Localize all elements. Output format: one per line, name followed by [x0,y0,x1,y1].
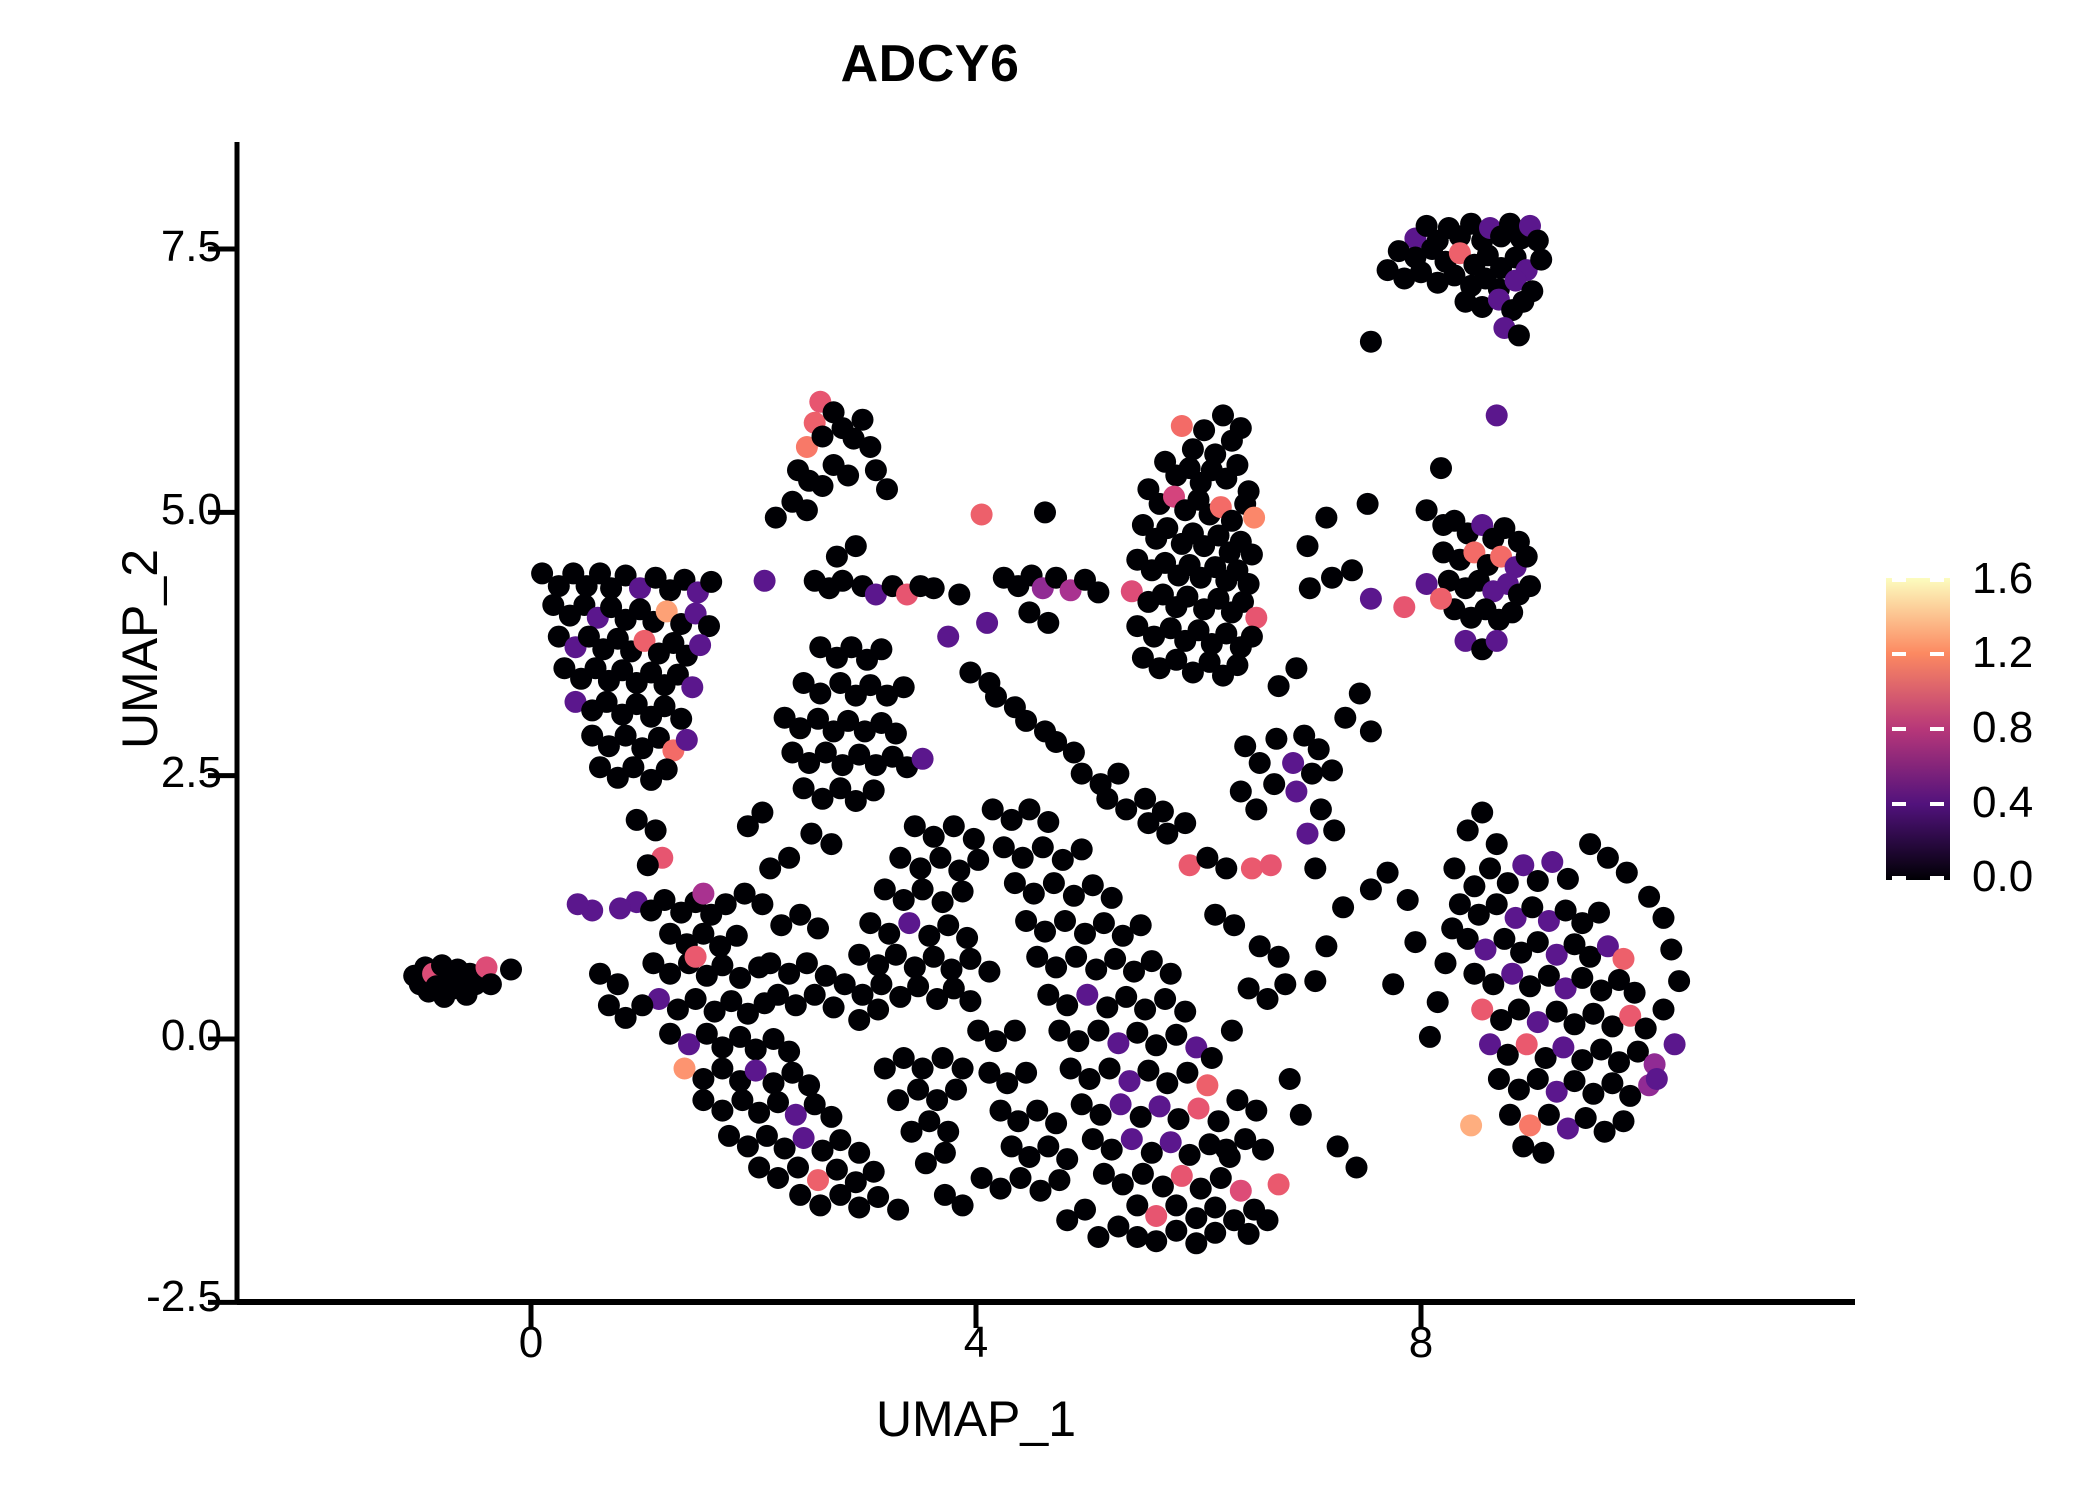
data-point [622,756,644,778]
data-point [1499,1104,1521,1126]
data-point [1082,1128,1104,1150]
ytick-label-0: 7.5 [161,222,222,272]
data-point [1119,1070,1141,1092]
data-point [1165,1024,1187,1046]
data-point [990,1178,1012,1200]
data-point [1087,1020,1109,1042]
data-point [1588,902,1610,924]
data-point [912,1058,934,1080]
data-point [1154,988,1176,1010]
data-point [1486,893,1508,915]
ytick-label-2: 2.5 [161,748,222,798]
x-axis-title: UMAP_1 [531,1390,1421,1448]
data-point [852,409,874,431]
data-point [796,499,818,521]
data-point [1449,893,1471,915]
data-point [1349,683,1371,705]
data-point [711,1058,733,1080]
data-point [837,465,859,487]
data-point [607,973,629,995]
data-point [1263,773,1285,795]
data-point [793,777,815,799]
data-point [785,1104,807,1126]
data-point [870,973,892,995]
data-point [1304,857,1326,879]
data-point [1145,1230,1167,1252]
data-point [1052,849,1074,871]
data-point [1597,847,1619,869]
data-point [1532,1142,1554,1164]
data-point [1034,501,1056,523]
data-point [1327,1135,1349,1157]
data-point [876,478,898,500]
data-point [937,626,959,648]
data-point [932,891,954,913]
data-point [1546,1001,1568,1023]
data-point [609,897,631,919]
data-point [1026,1100,1048,1122]
data-point [907,1079,929,1101]
data-point [1497,1044,1519,1066]
data-point [865,459,887,481]
data-point [767,1167,789,1189]
data-point [1488,1068,1510,1090]
data-point [1115,798,1137,820]
data-point [1519,575,1541,597]
data-point [656,758,678,780]
data-point [915,1152,937,1174]
data-point [1204,1197,1226,1219]
data-point [1107,1216,1129,1238]
data-point [1174,1001,1196,1023]
data-point [1030,1180,1052,1202]
colorbar-label-3: 0.4 [1972,778,2033,828]
data-point [1310,798,1332,820]
data-point [1501,963,1523,985]
data-point [1377,862,1399,884]
data-point [1063,742,1085,764]
data-point [945,1079,967,1101]
data-point [934,1142,956,1164]
data-point [1360,720,1382,742]
data-point [1660,939,1682,961]
ytick-label-4: -2.5 [146,1272,222,1322]
data-point [1201,1047,1223,1069]
data-point [659,963,681,985]
data-point [1107,1032,1129,1054]
data-point [889,847,911,869]
data-point [1018,601,1040,623]
data-point [952,881,974,903]
data-point [845,535,867,557]
data-point [726,925,748,947]
data-point [1334,707,1356,729]
data-point [1007,1110,1029,1132]
data-point [1443,857,1465,879]
data-point [1130,1106,1152,1128]
data-point [1099,1058,1121,1080]
data-point [1132,1163,1154,1185]
data-point [1274,973,1296,995]
data-point [1137,1060,1159,1082]
data-point [1257,988,1279,1010]
data-point [480,973,502,995]
data-point [1241,626,1263,648]
data-point [1087,1226,1109,1248]
data-point [711,1100,733,1122]
data-point [1034,921,1056,943]
data-point [993,836,1015,858]
data-point [1048,1169,1070,1191]
xtick-label-1: 4 [916,1318,1036,1368]
data-point [1037,984,1059,1006]
data-point [1015,1062,1037,1084]
data-point [1071,763,1093,785]
data-point [759,857,781,879]
data-point [1315,935,1337,957]
data-point [1460,1114,1482,1136]
data-point [1018,798,1040,820]
data-point [1265,728,1287,750]
data-point [907,975,929,997]
data-point [676,729,698,751]
data-point [1034,720,1056,742]
data-point [823,996,845,1018]
data-point [820,1106,842,1128]
data-point [1145,1034,1167,1056]
data-point [798,1074,820,1096]
data-point [1527,230,1549,252]
data-point [904,815,926,837]
data-point [1149,1095,1171,1117]
data-point [1176,1062,1198,1084]
data-point [978,961,1000,983]
data-point [1076,984,1098,1006]
data-point [1093,912,1115,934]
data-point [1101,1139,1123,1161]
data-point [765,507,787,529]
data-point [692,1089,714,1111]
data-point [1185,1207,1207,1229]
data-point [759,952,781,974]
data-point [1179,1144,1201,1166]
data-point [1557,868,1579,890]
data-point [985,1030,1007,1052]
data-point [1357,493,1379,515]
data-point [959,948,981,970]
data-point [692,1068,714,1090]
data-point [785,994,807,1016]
data-point [1067,1030,1089,1052]
data-point [770,914,792,936]
data-point [1619,1085,1641,1107]
colorbar-tick-0 [1892,578,1944,582]
data-point [1282,752,1304,774]
colorbar-label-4: 0.0 [1972,852,2033,902]
data-point [1245,1100,1267,1122]
data-point [1512,291,1534,313]
data-point [1475,939,1497,961]
data-point [1160,963,1182,985]
data-point [1512,1135,1534,1157]
data-point [952,1058,974,1080]
data-point [937,914,959,936]
data-point [1486,833,1508,855]
data-point [1145,1205,1167,1227]
data-point [1032,836,1054,858]
data-point [1257,1209,1279,1231]
data-point [1221,1020,1243,1042]
data-point [809,1194,831,1216]
data-point [1441,917,1463,939]
data-point [1416,499,1438,521]
data-point [1045,1112,1067,1134]
data-point [1215,857,1237,879]
data-point [1045,956,1067,978]
data-point [1516,1033,1538,1055]
data-point [1479,857,1501,879]
data-point [626,809,648,831]
data-point [1497,872,1519,894]
data-point [848,1009,870,1031]
data-point [1054,910,1076,932]
data-point [807,917,829,939]
data-point [1230,1180,1252,1202]
data-point [1299,577,1321,599]
data-point [848,1197,870,1219]
data-point [874,1058,896,1080]
data-point [848,944,870,966]
data-point [1126,1226,1148,1248]
data-point [1419,1026,1441,1048]
data-point [1238,1223,1260,1245]
data-point [787,1157,809,1179]
data-points-layer [403,213,1690,1255]
data-point [923,826,945,848]
data-point [1519,975,1541,997]
data-point [751,893,773,915]
data-point [820,833,842,855]
data-point [1230,417,1252,439]
data-point [737,1135,759,1157]
data-point [971,504,993,526]
data-point [1435,952,1457,974]
data-point [1110,1093,1132,1115]
y-axis-title: UMAP_2 [111,449,169,849]
data-point [767,1091,789,1113]
data-point [1090,1104,1112,1126]
data-point [751,802,773,824]
data-point [1664,1033,1686,1055]
data-point [804,984,826,1006]
data-point [1238,977,1260,999]
data-point [1541,851,1563,873]
data-point [1134,788,1156,810]
data-point [1252,1139,1274,1161]
data-point [681,676,703,698]
data-point [659,1023,681,1045]
data-point [1508,999,1530,1021]
data-point [1037,1135,1059,1157]
data-point [1165,1194,1187,1216]
data-point [645,819,667,841]
data-point [1564,1013,1586,1035]
colorbar-tick-3 [1892,802,1944,806]
data-point [1323,819,1345,841]
data-point [923,577,945,599]
data-point [748,1102,770,1124]
data-point [729,967,751,989]
data-point [1346,1157,1368,1179]
ytick-label-3: 0.0 [161,1011,222,1061]
data-point [1043,872,1065,894]
data-point [1527,870,1549,892]
data-point [1085,959,1107,981]
data-point [1279,1068,1301,1090]
data-point [1156,1072,1178,1094]
data-point [685,946,707,968]
data-point [1065,946,1087,968]
data-point [1074,1199,1096,1221]
data-point [1056,994,1078,1016]
data-point [1613,1110,1635,1132]
data-point [1427,991,1449,1013]
data-point [1516,546,1538,568]
data-point [874,878,896,900]
data-point [893,1047,915,1069]
data-point [1579,833,1601,855]
data-point [1168,1108,1190,1130]
data-point [1130,914,1152,936]
data-point [1564,1070,1586,1092]
data-point [1226,654,1248,676]
data-point [778,847,800,869]
data-point [1653,999,1675,1021]
data-point [1613,948,1635,970]
data-point [1404,931,1426,953]
data-point [1196,847,1218,869]
data-point [878,923,900,945]
data-point [1582,1083,1604,1105]
data-point [982,798,1004,820]
data-point [832,570,854,592]
data-point [812,475,834,497]
data-point [1301,763,1323,785]
data-point [848,1142,870,1164]
data-point [1519,1114,1541,1136]
data-point [763,1072,785,1094]
data-point [1304,970,1326,992]
data-point [1234,735,1256,757]
data-point [1208,1110,1230,1132]
data-point [1290,1104,1312,1126]
data-point [789,904,811,926]
data-point [1538,1104,1560,1126]
data-point [1332,896,1354,918]
data-point [1074,923,1096,945]
data-point [1527,1068,1549,1090]
data-point [926,1089,948,1111]
data-point [1635,1018,1657,1040]
data-point [1126,1194,1148,1216]
data-point [1249,935,1271,957]
data-point [1608,1051,1630,1073]
data-point [1037,612,1059,634]
data-point [1082,874,1104,896]
data-point [978,672,1000,694]
data-point [959,662,981,684]
data-point [718,1125,740,1147]
data-point [1245,798,1267,820]
colorbar-tick-1 [1892,652,1944,656]
data-point [904,956,926,978]
data-point [1594,1121,1616,1143]
data-point [1285,781,1307,803]
data-point [943,815,965,837]
data-point [1026,946,1048,968]
data-point [1457,819,1479,841]
ytick-label-1: 5.0 [161,485,222,535]
color-legend: 1.6 1.2 0.8 0.4 0.0 [1886,578,2086,880]
data-point [918,1110,940,1132]
data-point [1321,759,1343,781]
data-point [1204,1222,1226,1244]
data-point [912,748,934,770]
data-point [1230,781,1252,803]
data-point [863,779,885,801]
data-point [1160,1131,1182,1153]
data-point [689,634,711,656]
data-point [863,1161,885,1183]
data-point [1508,324,1530,346]
colorbar-tick-2 [1892,727,1944,731]
data-point [885,944,907,966]
data-point [1004,872,1026,894]
data-point [796,952,818,974]
data-point [698,615,720,637]
data-point [1104,948,1126,970]
xtick-label-0: 0 [471,1318,591,1368]
data-point [1527,1011,1549,1033]
data-point [715,893,737,915]
data-point [670,708,692,730]
data-point [971,1167,993,1189]
data-point [941,959,963,981]
data-point [809,683,831,705]
data-point [1060,1058,1082,1080]
data-point [1268,946,1290,968]
xtick-label-2: 8 [1361,1318,1481,1368]
data-point [1638,886,1660,908]
data-point [909,857,931,879]
data-point [1245,607,1267,629]
data-point [1141,1142,1163,1164]
data-point [870,638,892,660]
data-point [1601,1072,1623,1094]
data-point [1268,1173,1290,1195]
data-point [1616,862,1638,884]
data-point [1196,1074,1218,1096]
data-point [800,823,822,845]
data-point [1571,1049,1593,1071]
data-point [1188,1098,1210,1120]
data-point [1126,1022,1148,1044]
data-point [1152,801,1174,823]
data-point [793,1127,815,1149]
data-point [1174,812,1196,834]
data-point [1223,914,1245,936]
data-point [1341,559,1363,581]
